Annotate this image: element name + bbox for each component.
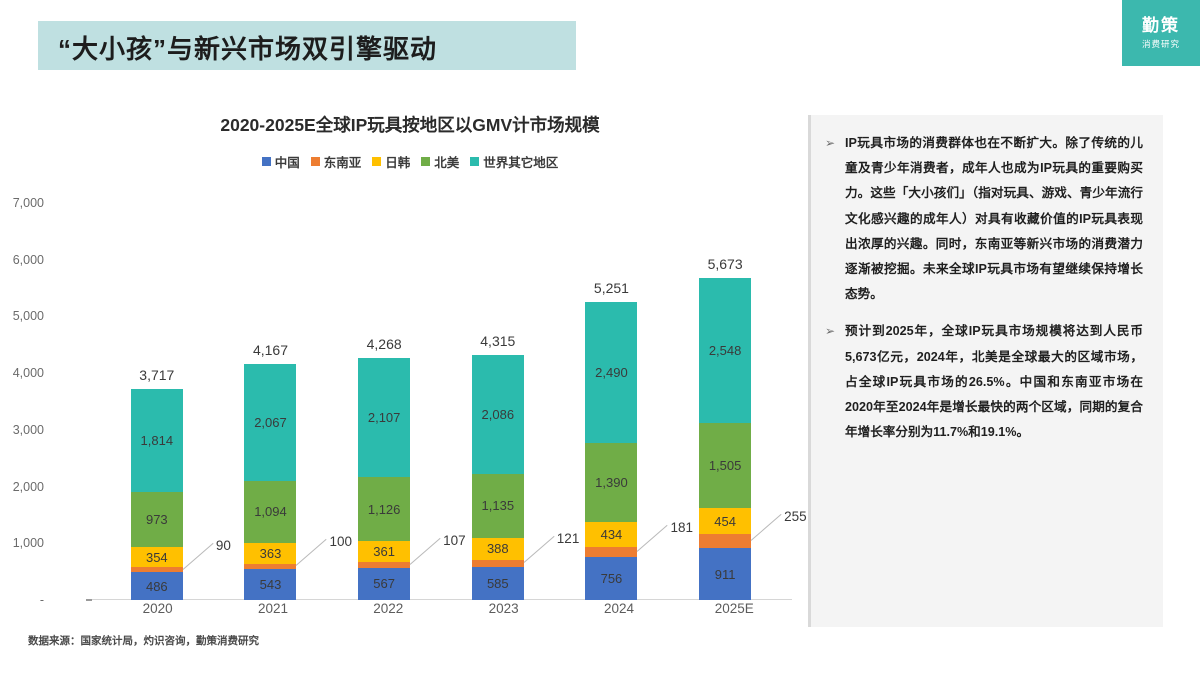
legend-item-label: 中国 bbox=[275, 152, 300, 171]
bar-segment-世界其它地区[interactable]: 1,814 bbox=[131, 389, 183, 492]
insight-bullet-text: 预计到2025年，全球IP玩具市场规模将达到人民币5,673亿元，2024年，北… bbox=[845, 319, 1143, 445]
bar-segment-北美[interactable]: 1,390 bbox=[585, 443, 637, 522]
x-axis-tick-label: 2022 bbox=[362, 601, 414, 616]
bar-segment-label: 1,505 bbox=[709, 458, 742, 473]
brand-logo: 勤策 消费研究 bbox=[1122, 0, 1200, 66]
callout-leader-line bbox=[183, 543, 214, 570]
y-axis-tick-label: 5,000 bbox=[13, 309, 44, 323]
slide-canvas: “大小孩”与新兴市场双引擎驱动 勤策 消费研究 2020-2025E全球IP玩具… bbox=[0, 0, 1200, 675]
bar-segment-日韩[interactable]: 434 bbox=[585, 522, 637, 547]
insight-bullet: ➢IP玩具市场的消费群体也在不断扩大。除了传统的儿童及青少年消费者，成年人也成为… bbox=[825, 131, 1143, 307]
x-axis-tick-label: 2021 bbox=[247, 601, 299, 616]
bar-segment-中国[interactable]: 567 bbox=[358, 568, 410, 600]
bar-segment-中国[interactable]: 486 bbox=[131, 572, 183, 600]
legend-item-label: 世界其它地区 bbox=[483, 152, 558, 171]
y-axis-tick-label: 6,000 bbox=[13, 253, 44, 267]
bar-segment-label: 756 bbox=[601, 571, 623, 586]
callout-leader-line bbox=[751, 514, 782, 541]
logo-main-text: 勤策 bbox=[1142, 16, 1180, 36]
bar-segment-label: 585 bbox=[487, 576, 509, 591]
callout-leader-line bbox=[410, 538, 441, 565]
legend-item-东南亚[interactable]: 东南亚 bbox=[311, 152, 362, 171]
bar-segment-label: 543 bbox=[260, 577, 282, 592]
chart-plot-area: 3,7171,81497335490486904,1672,0671,09436… bbox=[52, 185, 792, 600]
bar-segment-label: 567 bbox=[373, 576, 395, 591]
legend-swatch-icon bbox=[262, 157, 271, 166]
bar-segment-世界其它地区[interactable]: 2,067 bbox=[244, 364, 296, 481]
x-axis-tick-label: 2024 bbox=[593, 601, 645, 616]
bar-segment-callout-东南亚: 121 bbox=[557, 531, 580, 546]
bar-total-label: 4,268 bbox=[367, 336, 402, 352]
bar-segment-label: 973 bbox=[146, 512, 168, 527]
bar-group: 3,7171,81497335490486904,1672,0671,09436… bbox=[100, 185, 782, 600]
bar-segment-中国[interactable]: 756 bbox=[585, 557, 637, 600]
bar-segment-北美[interactable]: 1,126 bbox=[358, 477, 410, 541]
y-axis-tick-label: - bbox=[40, 593, 44, 607]
bar-segment-中国[interactable]: 585 bbox=[472, 567, 524, 600]
chart-title: 2020-2025E全球IP玩具按地区以GMV计市场规模 bbox=[40, 112, 780, 137]
callout-leader-line bbox=[637, 525, 668, 552]
legend-swatch-icon bbox=[372, 157, 381, 166]
bar-segment-label: 2,067 bbox=[254, 415, 287, 430]
bar-segment-世界其它地区[interactable]: 2,548 bbox=[699, 278, 751, 423]
bar-segment-callout-东南亚: 90 bbox=[216, 538, 231, 553]
bar-segment-日韩[interactable]: 363 bbox=[244, 543, 296, 564]
bar-segment-label: 1,094 bbox=[254, 504, 287, 519]
insight-bullet: ➢预计到2025年，全球IP玩具市场规模将达到人民币5,673亿元，2024年，… bbox=[825, 319, 1143, 445]
y-axis-tick-label: 4,000 bbox=[13, 366, 44, 380]
bar-segment-东南亚[interactable]: 121 bbox=[472, 560, 524, 567]
bar-segment-北美[interactable]: 973 bbox=[131, 492, 183, 547]
bar-segment-日韩[interactable]: 361 bbox=[358, 541, 410, 561]
x-axis-labels: 202020212022202320242025E bbox=[100, 601, 792, 616]
y-axis-tick-label: 7,000 bbox=[13, 196, 44, 210]
bar-column[interactable]: 3,7171,8149733549048690 bbox=[131, 185, 183, 600]
bar-segment-label: 454 bbox=[714, 514, 736, 529]
bar-segment-callout-东南亚: 107 bbox=[443, 533, 466, 548]
callout-leader-line bbox=[296, 540, 327, 567]
bar-segment-label: 911 bbox=[715, 567, 736, 582]
bar-segment-世界其它地区[interactable]: 2,490 bbox=[585, 302, 637, 443]
bar-segment-日韩[interactable]: 388 bbox=[472, 538, 524, 560]
bar-column[interactable]: 5,6732,5481,505454255911255 bbox=[699, 185, 751, 600]
y-axis-tick-label: 1,000 bbox=[13, 536, 44, 550]
bar-segment-label: 2,086 bbox=[482, 407, 515, 422]
source-note: 数据来源：国家统计局，灼识咨询，勤策消费研究 bbox=[28, 633, 259, 648]
y-axis-tick-label: 2,000 bbox=[13, 480, 44, 494]
bar-segment-北美[interactable]: 1,094 bbox=[244, 481, 296, 543]
legend-item-世界其它地区[interactable]: 世界其它地区 bbox=[470, 152, 558, 171]
bar-segment-日韩[interactable]: 354 bbox=[131, 547, 183, 567]
bar-segment-世界其它地区[interactable]: 2,107 bbox=[358, 358, 410, 477]
bar-segment-东南亚[interactable]: 181 bbox=[585, 547, 637, 557]
bar-total-label: 5,673 bbox=[708, 256, 743, 272]
bar-segment-label: 1,126 bbox=[368, 502, 401, 517]
bar-column[interactable]: 4,1672,0671,094363100543100 bbox=[244, 185, 296, 600]
bar-segment-callout-东南亚: 181 bbox=[670, 520, 693, 535]
legend-item-中国[interactable]: 中国 bbox=[262, 152, 300, 171]
bar-segment-中国[interactable]: 911 bbox=[699, 548, 751, 600]
bar-segment-label: 361 bbox=[373, 544, 395, 559]
x-axis-tick-label: 2025E bbox=[708, 601, 760, 616]
bullet-arrow-icon: ➢ bbox=[825, 131, 845, 155]
bar-segment-label: 434 bbox=[601, 527, 623, 542]
bar-column[interactable]: 4,3152,0861,135388121585121 bbox=[472, 185, 524, 600]
bar-segment-label: 363 bbox=[260, 546, 282, 561]
bar-segment-日韩[interactable]: 454 bbox=[699, 508, 751, 534]
bar-segment-北美[interactable]: 1,135 bbox=[472, 474, 524, 538]
legend-item-北美[interactable]: 北美 bbox=[421, 152, 459, 171]
bar-segment-label: 388 bbox=[487, 541, 509, 556]
x-axis-tick-label: 2023 bbox=[478, 601, 530, 616]
legend-item-label: 东南亚 bbox=[324, 152, 362, 171]
bar-segment-callout-东南亚: 255 bbox=[784, 509, 807, 524]
bar-segment-label: 1,814 bbox=[141, 433, 174, 448]
bar-segment-世界其它地区[interactable]: 2,086 bbox=[472, 355, 524, 473]
bar-column[interactable]: 5,2512,4901,390434181756181 bbox=[585, 185, 637, 600]
bar-total-label: 3,717 bbox=[139, 367, 174, 383]
legend-swatch-icon bbox=[311, 157, 320, 166]
bar-segment-label: 2,107 bbox=[368, 410, 401, 425]
legend-item-日韩[interactable]: 日韩 bbox=[372, 152, 410, 171]
bar-segment-label: 354 bbox=[146, 550, 168, 565]
legend-swatch-icon bbox=[421, 157, 430, 166]
bar-segment-北美[interactable]: 1,505 bbox=[699, 423, 751, 508]
page-title: “大小孩”与新兴市场双引擎驱动 bbox=[58, 29, 437, 66]
callout-leader-line bbox=[523, 537, 554, 564]
bar-segment-label: 486 bbox=[146, 579, 168, 594]
insight-bullet-text: IP玩具市场的消费群体也在不断扩大。除了传统的儿童及青少年消费者，成年人也成为I… bbox=[845, 131, 1143, 307]
bar-total-label: 5,251 bbox=[594, 280, 629, 296]
bar-segment-label: 1,135 bbox=[482, 498, 515, 513]
legend-item-label: 北美 bbox=[434, 152, 459, 171]
bar-segment-label: 1,390 bbox=[595, 475, 628, 490]
bar-segment-中国[interactable]: 543 bbox=[244, 569, 296, 600]
insight-panel: ➢IP玩具市场的消费群体也在不断扩大。除了传统的儿童及青少年消费者，成年人也成为… bbox=[808, 115, 1163, 627]
legend-swatch-icon bbox=[470, 157, 479, 166]
bar-column[interactable]: 4,2682,1071,126361107567107 bbox=[358, 185, 410, 600]
legend-item-label: 日韩 bbox=[385, 152, 410, 171]
y-axis-tick-label: 3,000 bbox=[13, 423, 44, 437]
bar-total-label: 4,315 bbox=[480, 333, 515, 349]
bullet-arrow-icon: ➢ bbox=[825, 319, 845, 343]
y-axis-zero-tick bbox=[86, 599, 92, 601]
x-axis-tick-label: 2020 bbox=[132, 601, 184, 616]
bar-segment-label: 2,490 bbox=[595, 365, 628, 380]
bar-segment-label: 2,548 bbox=[709, 343, 742, 358]
logo-sub-text: 消费研究 bbox=[1142, 38, 1180, 50]
bar-total-label: 4,167 bbox=[253, 342, 288, 358]
chart-legend: 中国东南亚日韩北美世界其它地区 bbox=[40, 152, 780, 171]
bar-segment-callout-东南亚: 100 bbox=[329, 534, 352, 549]
bar-segment-东南亚[interactable]: 255 bbox=[699, 534, 751, 548]
